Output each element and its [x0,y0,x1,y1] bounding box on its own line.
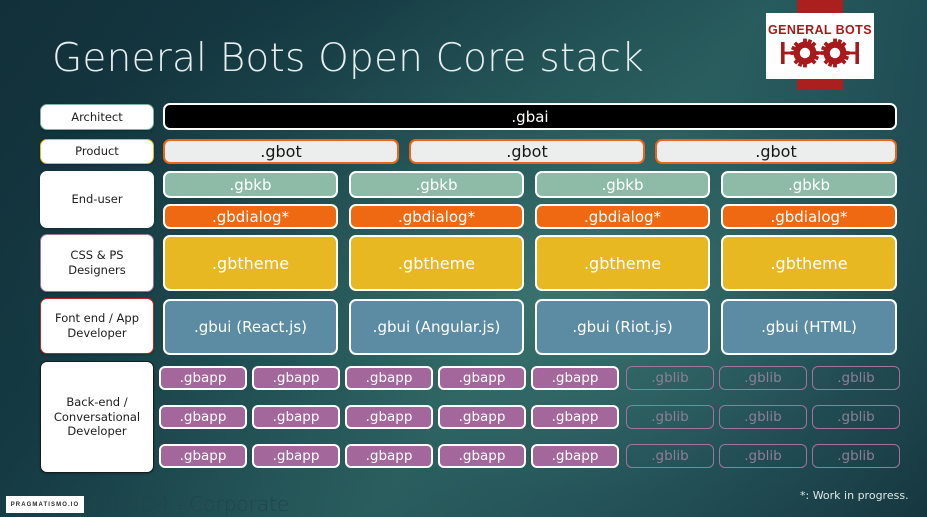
cell-gbapp[interactable]: .gbapp [252,405,340,429]
cell-gbapp[interactable]: .gbapp [159,444,247,468]
cell-gbot-2[interactable]: .gbot [409,139,645,164]
cell-label: .gbkb [415,176,457,194]
cell-label: .gbapp [180,448,227,464]
cell-label: .gbui (Riot.js) [572,318,672,336]
role-label-text: CSS & PS Designers [41,248,153,277]
cell-label: .gbapp [366,370,413,386]
cell-gbapp[interactable]: .gbapp [159,405,247,429]
cell-gbapp[interactable]: .gbapp [345,405,433,429]
cell-gblib[interactable]: .gblib [626,405,714,429]
cell-label: .gbapp [180,370,227,386]
cell-label: .gbtheme [398,254,475,273]
cell-gbtheme-4[interactable]: .gbtheme [721,235,897,291]
role-label-front-end-app-developer: Font end / App Developer [40,298,154,354]
cell-label: .gbapp [552,448,599,464]
cell-label: .gbui (Angular.js) [373,318,501,336]
cell-gbdialog-3[interactable]: .gbdialog* [535,204,710,229]
cell-gbkb-4[interactable]: .gbkb [721,171,897,198]
cell-label: .gbapp [273,370,320,386]
cell-gblib[interactable]: .gblib [812,366,900,390]
cell-gbapp[interactable]: .gbapp [531,444,619,468]
role-label-text: Architect [71,110,123,125]
cell-gbapp[interactable]: .gbapp [345,444,433,468]
cell-label: .gbapp [273,448,320,464]
cell-gbui-html[interactable]: .gbui (HTML) [721,299,897,355]
cell-gbdialog-1[interactable]: .gbdialog* [163,204,338,229]
cell-gbdialog-2[interactable]: .gbdialog* [349,204,524,229]
cell-gbtheme-3[interactable]: .gbtheme [535,235,710,291]
cell-gbdialog-4[interactable]: .gbdialog* [721,204,897,229]
role-label-product: Product [40,139,154,164]
cell-gbkb-1[interactable]: .gbkb [163,171,338,198]
cell-label: .gbkb [229,176,271,194]
cell-label: .gbdialog* [584,208,661,226]
cell-label: .gbapp [552,370,599,386]
cell-label: .gbot [506,142,547,161]
cell-gbkb-2[interactable]: .gbkb [349,171,524,198]
cell-gbapp[interactable]: .gbapp [159,366,247,390]
logo-wordmark: GENERAL BOTS [768,24,872,37]
cell-gbkb-3[interactable]: .gbkb [535,171,710,198]
cell-label: .gbkb [601,176,643,194]
cell-gblib[interactable]: .gblib [719,444,807,468]
cell-label: .gblib [651,409,689,425]
cell-label: .gbtheme [770,254,847,273]
cell-label: .gbdialog* [212,208,289,226]
general-bots-logo: GENERAL BOTS [766,13,874,79]
cell-label: .gbtheme [212,254,289,273]
cell-label: .gblib [744,448,782,464]
cell-label: .gbtheme [584,254,661,273]
cell-gbapp[interactable]: .gbapp [345,366,433,390]
cell-gbapp[interactable]: .gbapp [531,405,619,429]
cell-gbapp[interactable]: .gbapp [252,366,340,390]
cell-label: .gbapp [366,409,413,425]
cell-label: .gbapp [273,409,320,425]
role-label-text: Product [75,144,119,159]
cell-label: .gbui (HTML) [761,318,857,336]
cell-label: .gbkb [788,176,830,194]
cell-label: .gbapp [180,409,227,425]
slide-canvas: GENERAL BOTS [0,0,927,517]
cell-gblib[interactable]: .gblib [626,444,714,468]
cell-label: .gblib [744,409,782,425]
cell-gbapp[interactable]: .gbapp [438,405,526,429]
cell-label: .gbai [511,108,548,126]
cell-label: .gbapp [366,448,413,464]
cell-label: .gbdialog* [398,208,475,226]
cell-gblib[interactable]: .gblib [719,366,807,390]
cell-gblib[interactable]: .gblib [719,405,807,429]
role-label-text: Font end / App Developer [41,311,153,340]
cell-label: .gbapp [459,370,506,386]
cell-gblib[interactable]: .gblib [812,405,900,429]
role-label-end-user: End-user [40,171,154,228]
cell-gbapp[interactable]: .gbapp [438,366,526,390]
cell-label: .gblib [744,370,782,386]
role-label-architect: Architect [40,104,154,130]
gears-icon [777,38,863,68]
cell-label: .gbapp [552,409,599,425]
cell-gbapp[interactable]: .gbapp [531,366,619,390]
role-label-back-end-conversational-developer: Back-end / Conversational Developer [40,361,154,473]
role-label-text: Back-end / Conversational Developer [41,395,153,439]
cell-label: .gbdialog* [770,208,847,226]
cell-gbtheme-2[interactable]: .gbtheme [349,235,524,291]
cell-gbot-3[interactable]: .gbot [655,139,897,164]
cell-gbui-angular[interactable]: .gbui (Angular.js) [349,299,524,355]
cell-label: .gbapp [459,409,506,425]
cell-label: .gblib [837,448,875,464]
cell-label: .gblib [651,370,689,386]
footer-caption: 2018Q4 - Corporate [90,492,289,516]
cell-gbui-react[interactable]: .gbui (React.js) [163,299,338,355]
cell-gbui-riot[interactable]: .gbui (Riot.js) [535,299,710,355]
cell-label: .gbot [260,142,301,161]
cell-label: .gblib [651,448,689,464]
cell-gbot-1[interactable]: .gbot [163,139,399,164]
cell-gblib[interactable]: .gblib [812,444,900,468]
cell-label: .gbapp [459,448,506,464]
cell-gbapp[interactable]: .gbapp [252,444,340,468]
pragmatismo-wordmark: PRAGMATISMO.IO [11,502,80,508]
cell-gblib[interactable]: .gblib [626,366,714,390]
cell-label: .gblib [837,370,875,386]
role-label-css-ps-designers: CSS & PS Designers [40,234,154,292]
role-label-text: End-user [71,192,122,207]
work-in-progress-note: *: Work in progress. [800,489,909,502]
pragmatismo-logo: PRAGMATISMO.IO [6,496,84,513]
cell-gbai[interactable]: .gbai [163,103,897,130]
cell-label: .gbui (React.js) [194,318,307,336]
cell-label: .gbot [755,142,796,161]
cell-gbapp[interactable]: .gbapp [438,444,526,468]
page-title: General Bots Open Core stack [52,36,644,81]
cell-gbtheme-1[interactable]: .gbtheme [163,235,338,291]
cell-label: .gblib [837,409,875,425]
